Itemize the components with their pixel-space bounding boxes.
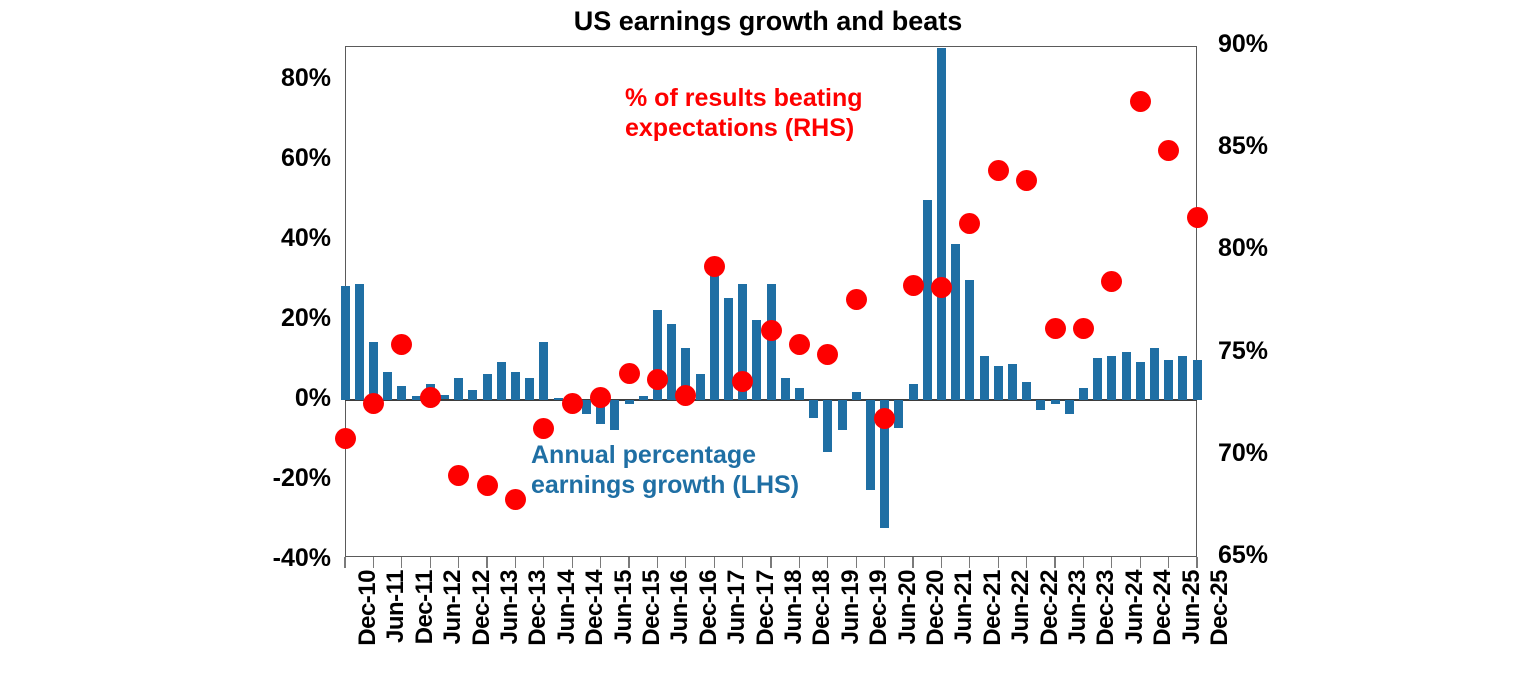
bar (341, 286, 350, 400)
x-axis-label-dec-23: Dec-23 (1092, 570, 1120, 646)
x-axis-label-jun-25: Jun-25 (1178, 570, 1206, 644)
x-tick-mark (458, 557, 459, 568)
bar (554, 398, 563, 400)
bar (497, 362, 506, 400)
annotation-beat-rate: % of results beating expectations (RHS) (625, 84, 863, 143)
x-axis-label-jun-15: Jun-15 (610, 570, 638, 644)
bar (1022, 382, 1031, 400)
x-tick-mark (543, 557, 544, 568)
x-tick-mark (969, 557, 970, 568)
bar (355, 284, 364, 400)
bar (1008, 364, 1017, 400)
bar (809, 400, 818, 418)
x-tick-mark (714, 557, 715, 568)
x-axis-label-dec-16: Dec-16 (695, 570, 723, 646)
left-axis-tick--40: -40% (273, 544, 331, 573)
x-axis-label-dec-20: Dec-20 (922, 570, 950, 646)
bar (1164, 360, 1173, 400)
x-tick-mark (799, 557, 800, 568)
x-axis-label-jun-11: Jun-11 (382, 570, 410, 643)
bar (468, 390, 477, 400)
left-axis-tick-80: 80% (281, 64, 331, 93)
bar (795, 388, 804, 400)
x-tick-mark (856, 557, 857, 568)
bar (781, 378, 790, 400)
x-axis-label-dec-19: Dec-19 (865, 570, 893, 646)
x-axis-label-dec-15: Dec-15 (638, 570, 666, 646)
x-tick-mark (941, 557, 942, 568)
bar (397, 386, 406, 400)
scatter-point (732, 371, 753, 392)
scatter-point (1130, 91, 1151, 112)
scatter-point (505, 489, 526, 510)
bar (852, 392, 861, 400)
right-axis-tick-80: 80% (1218, 234, 1268, 263)
x-tick-mark (1140, 557, 1141, 568)
scatter-point (704, 256, 725, 277)
x-axis-label-jun-17: Jun-17 (723, 570, 751, 644)
scatter-point (448, 465, 469, 486)
right-axis-tick-75: 75% (1218, 337, 1268, 366)
bar (1079, 388, 1088, 400)
x-tick-mark (827, 557, 828, 568)
bar (511, 372, 520, 400)
x-axis-label-jun-16: Jun-16 (666, 570, 694, 644)
x-axis-label-jun-18: Jun-18 (780, 570, 808, 644)
x-axis-label-dec-21: Dec-21 (979, 570, 1007, 646)
x-tick-mark (1026, 557, 1027, 568)
x-axis-label-jun-19: Jun-19 (837, 570, 865, 644)
x-tick-mark (373, 557, 374, 568)
scatter-point (846, 289, 867, 310)
x-axis-label-jun-20: Jun-20 (894, 570, 922, 644)
left-axis-tick-60: 60% (281, 144, 331, 173)
left-axis-tick-0: 0% (295, 384, 331, 413)
bar (965, 280, 974, 400)
x-axis-label-dec-25: Dec-25 (1206, 570, 1234, 646)
x-tick-mark (1111, 557, 1112, 568)
x-axis-label-dec-11: Dec-11 (411, 570, 439, 644)
bar (383, 372, 392, 400)
scatter-point (1187, 207, 1208, 228)
x-tick-mark (486, 557, 487, 568)
right-axis-tick-85: 85% (1218, 132, 1268, 161)
bar (1122, 352, 1131, 400)
x-axis-label-jun-21: Jun-21 (950, 570, 978, 644)
x-axis-label-jun-23: Jun-23 (1064, 570, 1092, 644)
x-tick-mark (1083, 557, 1084, 568)
scatter-point (1101, 271, 1122, 292)
x-axis-label-dec-12: Dec-12 (468, 570, 496, 646)
scatter-point (562, 393, 583, 414)
x-tick-mark (912, 557, 913, 568)
bar (440, 395, 449, 400)
bar (525, 378, 534, 400)
x-axis-label-dec-13: Dec-13 (524, 570, 552, 646)
bar (696, 374, 705, 400)
bar (951, 244, 960, 400)
x-tick-mark (685, 557, 686, 568)
bar (1051, 400, 1060, 404)
scatter-point (590, 387, 611, 408)
x-tick-mark (1196, 557, 1197, 568)
scatter-point (1158, 140, 1179, 161)
left-axis-tick-40: 40% (281, 224, 331, 253)
x-axis-label-dec-24: Dec-24 (1149, 570, 1177, 646)
scatter-point (477, 475, 498, 496)
x-axis-label-dec-10: Dec-10 (354, 570, 382, 646)
bar (1065, 400, 1074, 414)
bar (1193, 360, 1202, 400)
x-tick-mark (770, 557, 771, 568)
scatter-point (931, 277, 952, 298)
x-axis-label-dec-22: Dec-22 (1036, 570, 1064, 646)
bar (667, 324, 676, 400)
chart-title: US earnings growth and beats (0, 6, 1536, 37)
x-tick-mark (1168, 557, 1169, 568)
x-axis-label-dec-18: Dec-18 (808, 570, 836, 646)
x-tick-mark (1054, 557, 1055, 568)
scatter-point (874, 408, 895, 429)
right-axis-tick-90: 90% (1218, 30, 1268, 59)
x-axis-label-jun-24: Jun-24 (1121, 570, 1149, 644)
chart-root: US earnings growth and beats 80%60%40%20… (0, 0, 1536, 680)
bar (894, 400, 903, 428)
bar (866, 400, 875, 490)
x-axis-label-dec-14: Dec-14 (581, 570, 609, 646)
x-axis-label-jun-12: Jun-12 (439, 570, 467, 644)
bar (994, 366, 1003, 400)
bar (1107, 356, 1116, 400)
scatter-point (761, 320, 782, 341)
bar (625, 400, 634, 404)
x-axis-label-jun-14: Jun-14 (553, 570, 581, 644)
x-axis-label-jun-22: Jun-22 (1007, 570, 1035, 644)
bar (767, 284, 776, 400)
bar (980, 356, 989, 400)
scatter-point (363, 393, 384, 414)
x-tick-mark (600, 557, 601, 568)
x-axis-label-jun-13: Jun-13 (496, 570, 524, 644)
scatter-point (903, 275, 924, 296)
bar (923, 200, 932, 400)
bar (909, 384, 918, 400)
bar (539, 342, 548, 400)
x-tick-mark (430, 557, 431, 568)
scatter-point (789, 334, 810, 355)
right-axis-tick-65: 65% (1218, 541, 1268, 570)
bar (1178, 356, 1187, 400)
right-axis-tick-70: 70% (1218, 439, 1268, 468)
bar (1036, 400, 1045, 410)
bar (710, 266, 719, 400)
scatter-point (619, 363, 640, 384)
bar (1136, 362, 1145, 400)
bar (838, 400, 847, 430)
scatter-point (1045, 318, 1066, 339)
scatter-point (335, 428, 356, 449)
bar (610, 400, 619, 430)
x-tick-mark (572, 557, 573, 568)
bar (752, 320, 761, 400)
bar (483, 374, 492, 400)
scatter-point (988, 160, 1009, 181)
bar (369, 342, 378, 400)
bar (582, 400, 591, 414)
left-axis-tick--20: -20% (273, 464, 331, 493)
left-axis-tick-20: 20% (281, 304, 331, 333)
bar (1093, 358, 1102, 400)
x-axis-label-dec-17: Dec-17 (752, 570, 780, 646)
scatter-point (420, 387, 441, 408)
x-tick-mark (628, 557, 629, 568)
x-tick-mark (401, 557, 402, 568)
scatter-point (533, 418, 554, 439)
x-tick-mark (742, 557, 743, 568)
annotation-earnings-growth: Annual percentage earnings growth (LHS) (531, 441, 799, 500)
scatter-point (1073, 318, 1094, 339)
x-tick-mark (515, 557, 516, 568)
x-tick-mark (657, 557, 658, 568)
bar (823, 400, 832, 452)
x-tick-mark (884, 557, 885, 568)
bar (1150, 348, 1159, 400)
bar (937, 48, 946, 400)
bar (454, 378, 463, 400)
x-tick-mark (998, 557, 999, 568)
scatter-point (647, 369, 668, 390)
x-tick-mark (344, 557, 345, 568)
bar (639, 396, 648, 400)
